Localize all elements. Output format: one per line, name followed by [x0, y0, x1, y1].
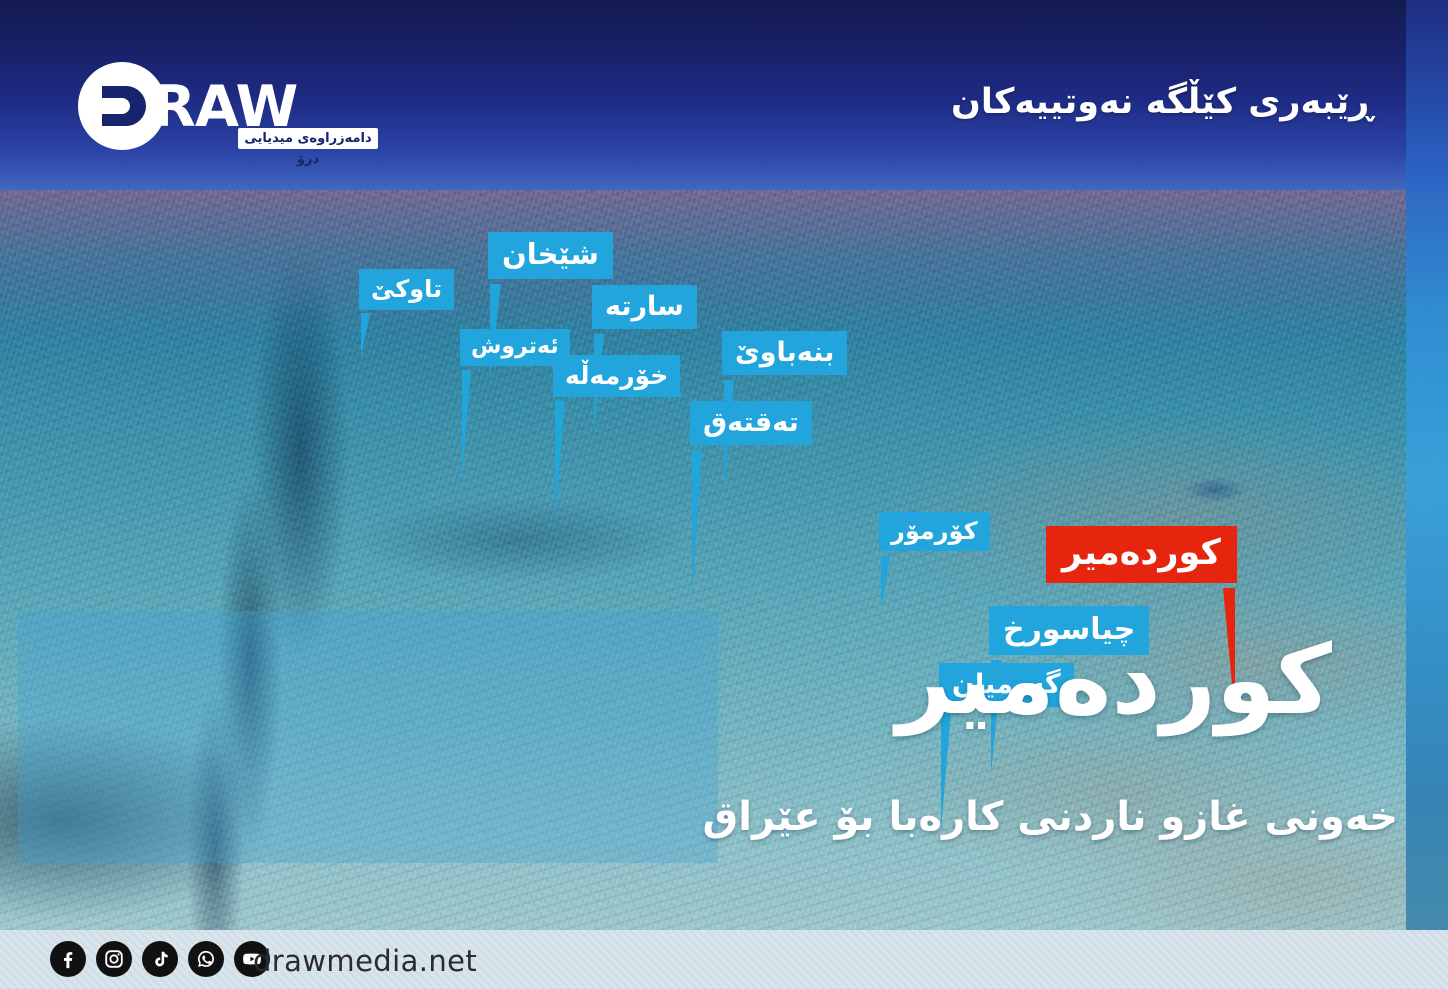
- map-label-tawke[interactable]: تاوکێ: [359, 269, 454, 310]
- map-label-text: کۆرمۆر: [879, 512, 990, 551]
- instagram-icon[interactable]: [96, 941, 132, 977]
- map-label-text: بنەباوێ: [722, 331, 847, 375]
- map-label-text: سارتە: [592, 285, 697, 329]
- logo-subtitle: دامەزراوەی میدیایی درۆ: [238, 128, 378, 149]
- tiktok-icon[interactable]: [142, 941, 178, 977]
- map-label-shekhan[interactable]: شێخان: [488, 232, 613, 279]
- map-label-text: تەقتەق: [690, 401, 812, 445]
- map-label-kurdamir-highlight[interactable]: کوردەمیر: [1046, 526, 1237, 583]
- map-label-binabawi[interactable]: بنەباوێ: [722, 331, 847, 375]
- hero-subtitle: خەونی غازو ناردنی کارەبا بۆ عێراق: [703, 793, 1398, 841]
- map-label-taqtaq[interactable]: تەقتەق: [690, 401, 812, 445]
- map-label-tail: [462, 370, 471, 480]
- header-title: ڕێبەری کێڵگە نەوتییەکان: [951, 82, 1373, 122]
- map-label-khurmala[interactable]: خۆرمەڵە: [553, 355, 680, 397]
- map-label-sarta[interactable]: سارتە: [592, 285, 697, 329]
- map-label-tail: [692, 450, 702, 596]
- map-label-text: کوردەمیر: [1046, 526, 1237, 583]
- hero-title: کوردەمیر: [896, 630, 1332, 731]
- map-label-text: شێخان: [488, 232, 613, 279]
- draw-media-logo[interactable]: RAW دامەزراوەی میدیایی درۆ: [78, 58, 308, 152]
- facebook-icon[interactable]: [50, 941, 86, 977]
- footer-bar: drawmedia.net: [0, 930, 1448, 989]
- social-links: [50, 941, 270, 977]
- whatsapp-icon[interactable]: [188, 941, 224, 977]
- map-label-text: تاوکێ: [359, 269, 454, 310]
- right-edge-gradient-strip: [1406, 0, 1448, 930]
- logo-d-icon: [98, 80, 150, 132]
- hero-overlay-panel: [18, 611, 718, 863]
- map-label-kormor[interactable]: کۆرمۆر: [879, 512, 990, 551]
- map-label-tail: [361, 313, 370, 357]
- map-label-text: خۆرمەڵە: [553, 355, 680, 397]
- map-label-tail: [555, 401, 565, 523]
- poster-canvas: RAW دامەزراوەی میدیایی درۆ ڕێبەری کێڵگە …: [0, 0, 1448, 989]
- website-url[interactable]: drawmedia.net: [253, 944, 477, 978]
- map-label-tail: [881, 556, 890, 610]
